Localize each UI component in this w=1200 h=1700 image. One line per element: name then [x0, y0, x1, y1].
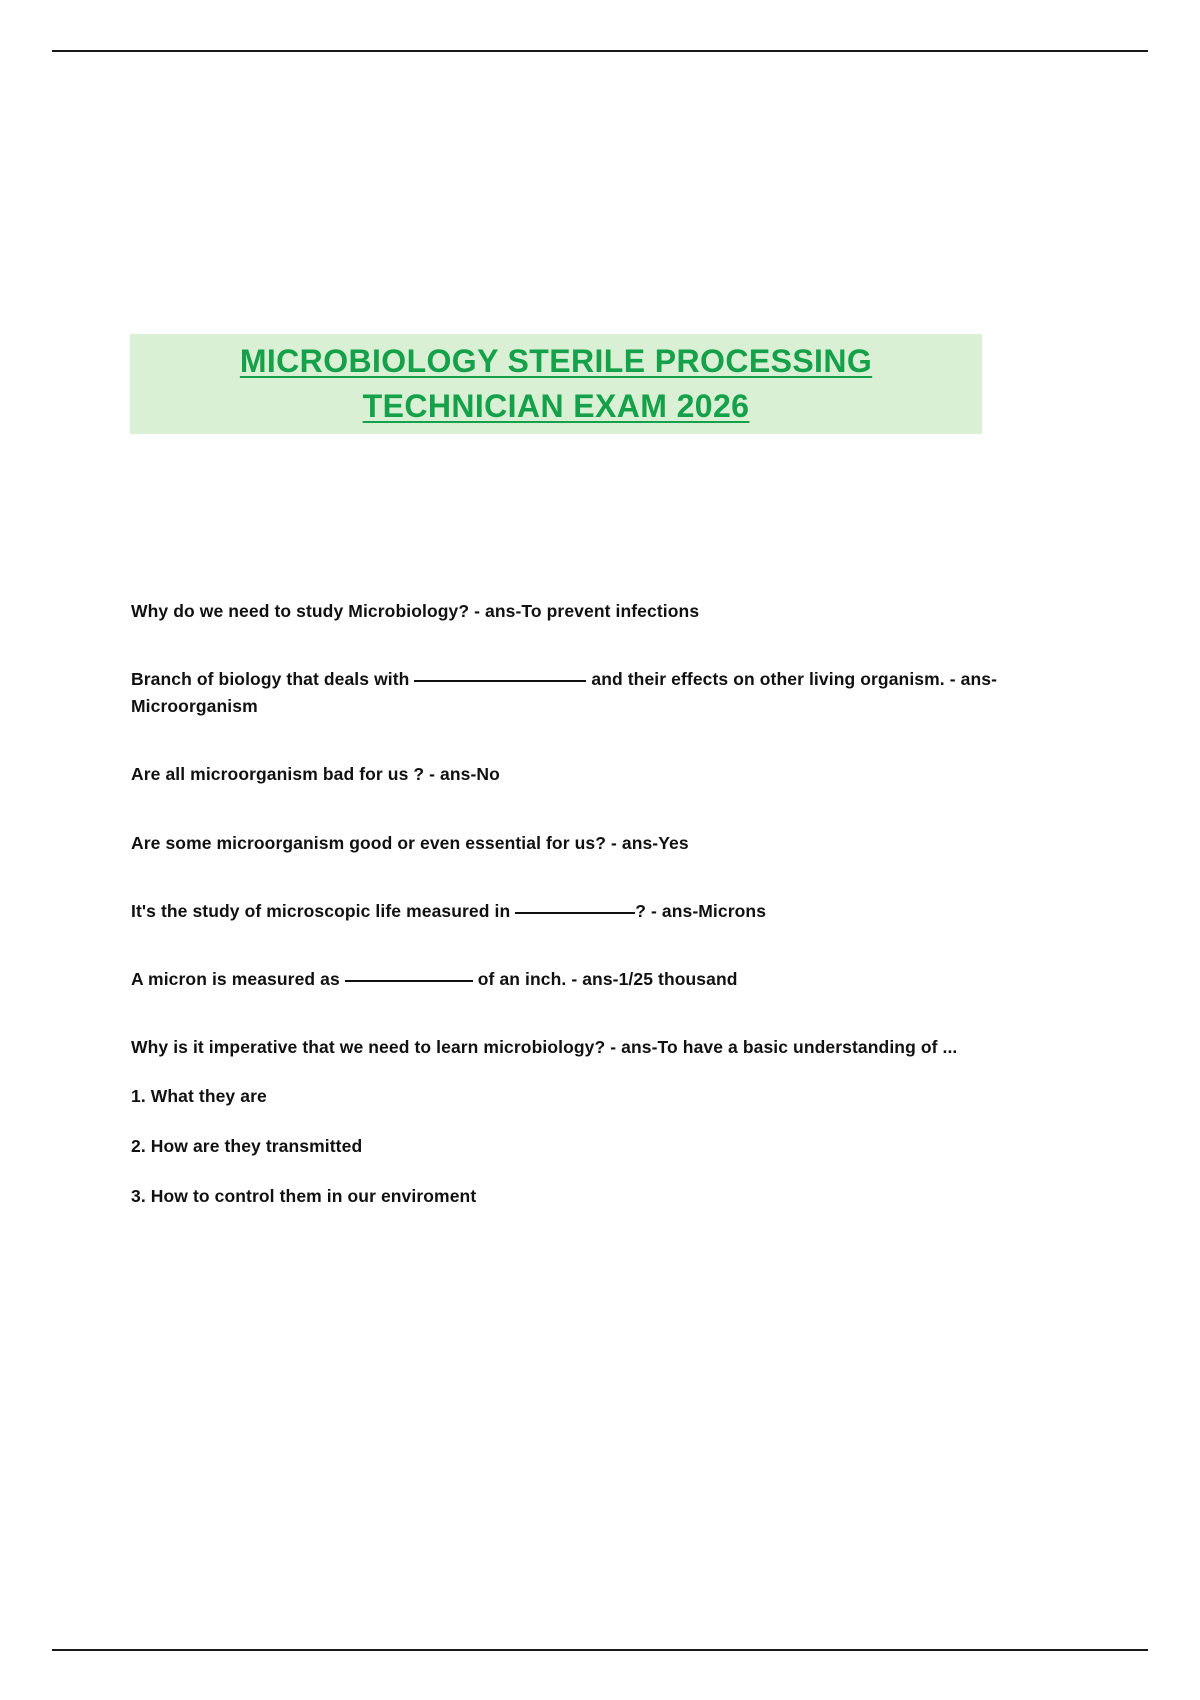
qa-text-2-before-blank: Branch of biology that deals with [131, 669, 414, 689]
qa-text-3: Are all microorganism bad for us ? - ans… [131, 761, 1011, 788]
qa-block-7: Why is it imperative that we need to lea… [131, 1034, 1011, 1211]
document-body: Why do we need to study Microbiology? - … [131, 598, 1011, 1210]
qa-text-5-before-blank: It's the study of microscopic life measu… [131, 901, 515, 921]
document-title-line-1: MICROBIOLOGY STERILE PROCESSING [240, 339, 872, 384]
list-item: 2. How are they transmitted [131, 1133, 1011, 1160]
qa-block-2: Branch of biology that deals with and th… [131, 666, 1011, 720]
qa-text-1: Why do we need to study Microbiology? - … [131, 598, 1011, 625]
qa-block-5: It's the study of microscopic life measu… [131, 898, 1011, 925]
qa-block-1: Why do we need to study Microbiology? - … [131, 598, 1011, 625]
fill-in-blank [414, 680, 586, 682]
qa-block-4: Are some microorganism good or even esse… [131, 830, 1011, 857]
qa-text-5-after-blank: ? - ans-Microns [635, 901, 766, 921]
page-bottom-rule [52, 1649, 1148, 1651]
qa-block-3: Are all microorganism bad for us ? - ans… [131, 761, 1011, 788]
qa-text-6-after-blank: of an inch. - ans-1/25 thousand [473, 969, 738, 989]
qa-text-2: Branch of biology that deals with and th… [131, 666, 1011, 720]
qa-text-6: A micron is measured as of an inch. - an… [131, 966, 1011, 993]
qa-text-5: It's the study of microscopic life measu… [131, 898, 1011, 925]
document-title-banner: MICROBIOLOGY STERILE PROCESSING TECHNICI… [130, 334, 982, 434]
fill-in-blank [345, 980, 473, 982]
list-item: 1. What they are [131, 1083, 1011, 1110]
qa-block-6: A micron is measured as of an inch. - an… [131, 966, 1011, 993]
page-top-rule [52, 50, 1148, 52]
document-page: MICROBIOLOGY STERILE PROCESSING TECHNICI… [0, 0, 1200, 1700]
qa-text-4: Are some microorganism good or even esse… [131, 830, 1011, 857]
numbered-list: 1. What they are 2. How are they transmi… [131, 1083, 1011, 1210]
fill-in-blank [515, 912, 635, 914]
list-item: 3. How to control them in our enviroment [131, 1183, 1011, 1210]
document-title-line-2: TECHNICIAN EXAM 2026 [363, 384, 750, 429]
qa-text-6-before-blank: A micron is measured as [131, 969, 345, 989]
qa-text-7: Why is it imperative that we need to lea… [131, 1034, 1011, 1061]
